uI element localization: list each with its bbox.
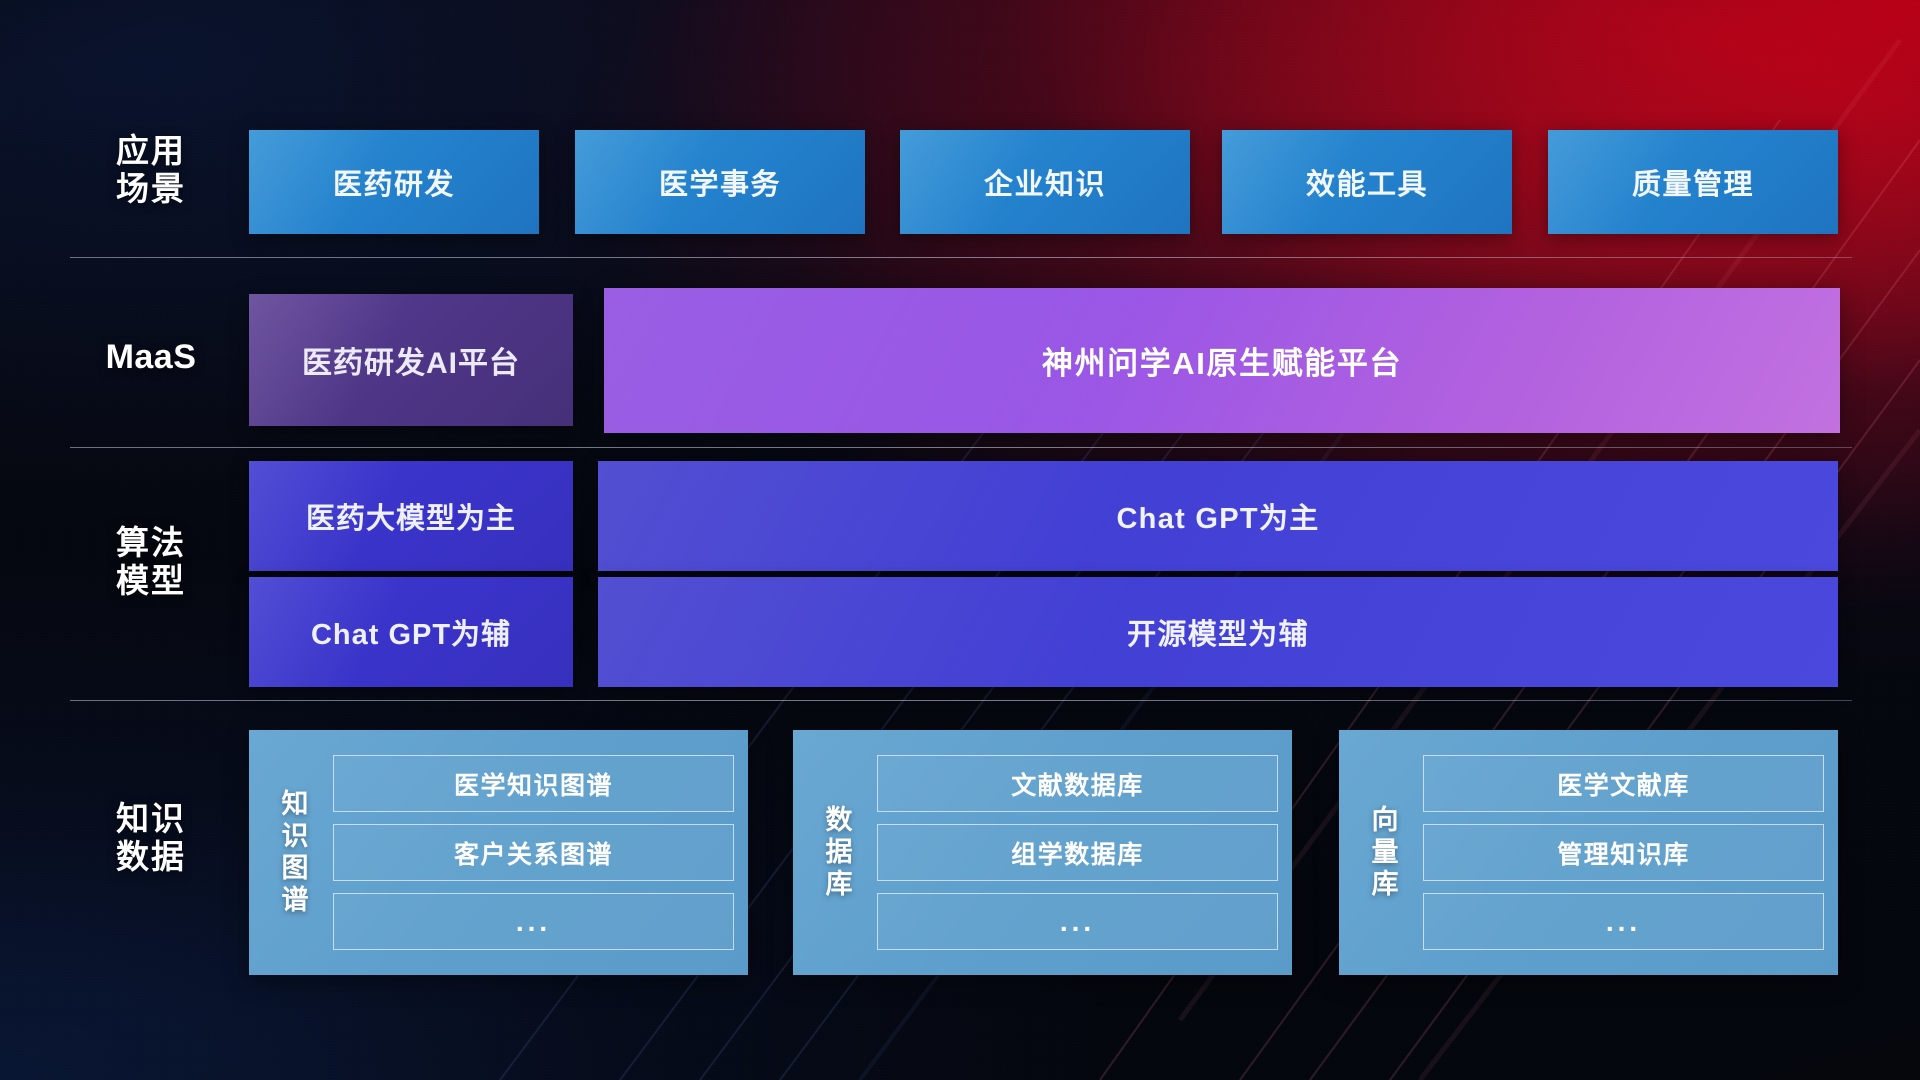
scenario-card-5[interactable]: 质量管理 <box>1548 130 1838 234</box>
row-label-maas-text: MaaS <box>66 338 236 377</box>
knowledge-panel-database-items: 文献数据库 组学数据库 ... <box>869 742 1278 963</box>
row-label-algorithm-line1: 算法 <box>66 524 236 562</box>
scenario-card-4-label: 效能工具 <box>1306 161 1428 203</box>
knowledge-item-more[interactable]: ... <box>1423 893 1824 950</box>
maas-card-pharma-ai-platform-label: 医药研发AI平台 <box>302 338 520 382</box>
scenario-card-5-label: 质量管理 <box>1632 161 1754 203</box>
maas-card-pharma-ai-platform[interactable]: 医药研发AI平台 <box>249 294 573 426</box>
knowledge-panel-vector-items: 医学文献库 管理知识库 ... <box>1415 742 1824 963</box>
algorithm-card-row2-left[interactable]: Chat GPT为辅 <box>249 577 573 687</box>
algorithm-card-row2-left-label: Chat GPT为辅 <box>311 611 511 653</box>
scenario-card-2-label: 医学事务 <box>659 161 781 203</box>
knowledge-item[interactable]: 组学数据库 <box>877 824 1278 881</box>
knowledge-item[interactable]: 医学文献库 <box>1423 755 1824 812</box>
row-label-maas: MaaS <box>66 338 236 377</box>
row-label-algorithm-line2: 模型 <box>66 562 236 600</box>
scenario-card-2[interactable]: 医学事务 <box>575 130 865 234</box>
maas-card-shenzhou-platform-label: 神州问学AI原生赋能平台 <box>1042 338 1402 383</box>
row-label-algorithm: 算法 模型 <box>66 524 236 599</box>
row-label-knowledge-line1: 知识 <box>66 800 236 838</box>
knowledge-panel-graph-title: 知识图谱 <box>259 742 325 963</box>
algorithm-card-row1-right-label: Chat GPT为主 <box>1116 495 1319 537</box>
algorithm-card-row2-right[interactable]: 开源模型为辅 <box>598 577 1838 687</box>
maas-card-shenzhou-platform[interactable]: 神州问学AI原生赋能平台 <box>604 288 1840 433</box>
knowledge-item[interactable]: 管理知识库 <box>1423 824 1824 881</box>
row-label-application-line1: 应用 <box>66 132 236 170</box>
row-label-application-line2: 场景 <box>66 170 236 208</box>
row-label-knowledge-line2: 数据 <box>66 838 236 876</box>
knowledge-item[interactable]: 医学知识图谱 <box>333 755 734 812</box>
knowledge-item[interactable]: 文献数据库 <box>877 755 1278 812</box>
slide-canvas: 应用 场景 医药研发 医学事务 企业知识 效能工具 质量管理 MaaS <box>0 0 1920 1080</box>
knowledge-panel-graph-items: 医学知识图谱 客户关系图谱 ... <box>325 742 734 963</box>
knowledge-panel-database-title: 数据库 <box>803 742 869 963</box>
algorithm-card-row2-right-label: 开源模型为辅 <box>1127 611 1309 653</box>
algorithm-card-row1-left[interactable]: 医药大模型为主 <box>249 461 573 571</box>
algorithm-card-row1-right[interactable]: Chat GPT为主 <box>598 461 1838 571</box>
knowledge-panel-database[interactable]: 数据库 文献数据库 组学数据库 ... <box>793 730 1292 975</box>
scenario-card-1[interactable]: 医药研发 <box>249 130 539 234</box>
row-label-knowledge: 知识 数据 <box>66 800 236 875</box>
knowledge-panel-vector-title: 向量库 <box>1349 742 1415 963</box>
knowledge-item-more[interactable]: ... <box>333 893 734 950</box>
scenario-card-3[interactable]: 企业知识 <box>900 130 1190 234</box>
algorithm-card-row1-left-label: 医药大模型为主 <box>306 495 516 537</box>
knowledge-item[interactable]: 客户关系图谱 <box>333 824 734 881</box>
divider-algorithm-knowledge <box>70 700 1852 701</box>
scenario-card-4[interactable]: 效能工具 <box>1222 130 1512 234</box>
knowledge-panel-vector[interactable]: 向量库 医学文献库 管理知识库 ... <box>1339 730 1838 975</box>
row-label-application: 应用 场景 <box>66 132 236 207</box>
divider-application-maas <box>70 257 1852 258</box>
scenario-card-1-label: 医药研发 <box>333 161 455 203</box>
knowledge-panel-graph[interactable]: 知识图谱 医学知识图谱 客户关系图谱 ... <box>249 730 748 975</box>
divider-maas-algorithm <box>70 447 1852 448</box>
scenario-card-3-label: 企业知识 <box>984 161 1106 203</box>
knowledge-item-more[interactable]: ... <box>877 893 1278 950</box>
